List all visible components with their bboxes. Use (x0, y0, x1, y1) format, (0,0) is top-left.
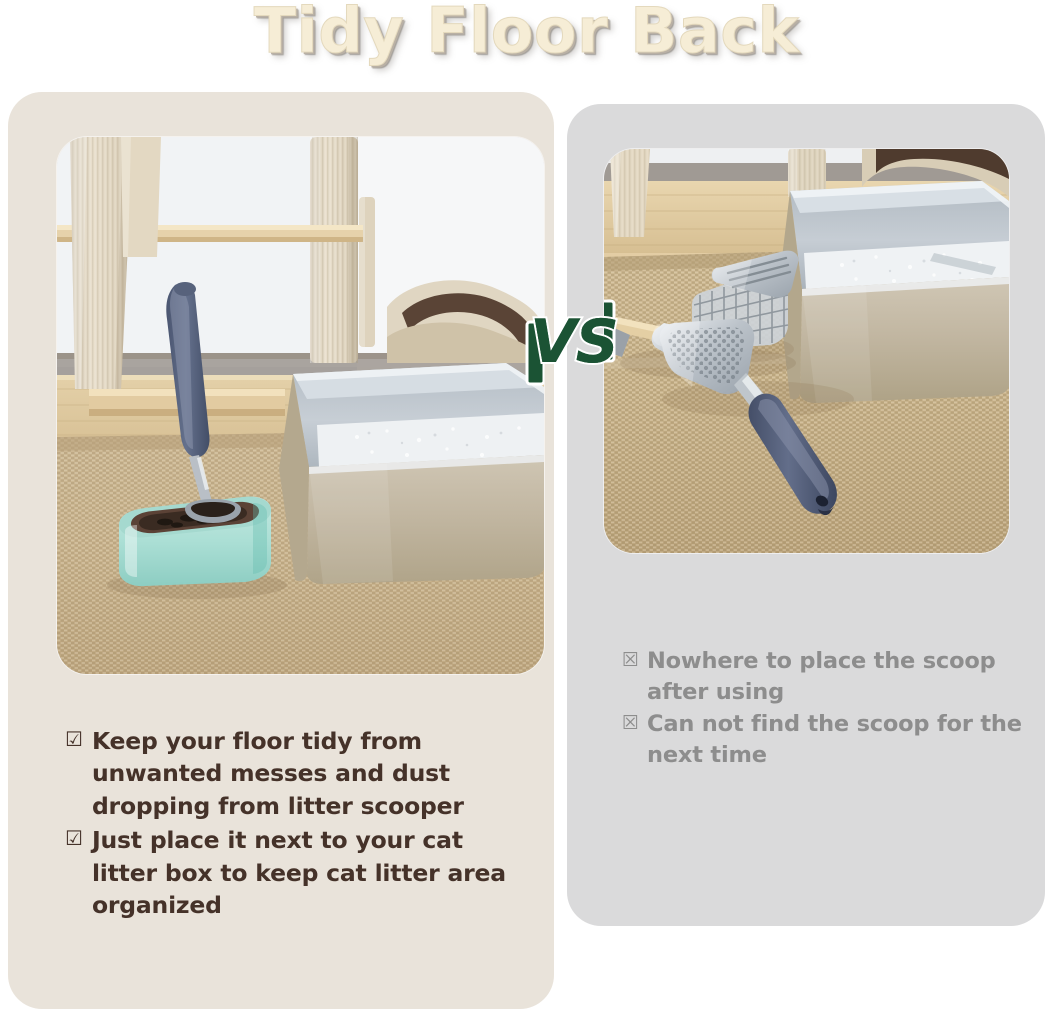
crossed-box-icon: ☒ (622, 646, 639, 673)
problem-photo-loose-scoops (604, 149, 1009, 553)
page-title: Tidy Floor Back (254, 0, 799, 63)
checked-box-icon: ☑ (65, 824, 83, 853)
checked-box-icon: ☑ (65, 725, 83, 754)
drawback-list: ☒ Nowhere to place the scoop after using… (622, 646, 1030, 772)
benefit-text: Just place it next to your cat litter bo… (92, 824, 535, 921)
list-item: ☑ Keep your floor tidy from unwanted mes… (65, 725, 535, 822)
comparison-panel-right: ☒ Nowhere to place the scoop after using… (567, 104, 1045, 926)
list-item: ☒ Can not find the scoop for the next ti… (622, 709, 1030, 771)
list-item: ☒ Nowhere to place the scoop after using (622, 646, 1030, 708)
list-item: ☑ Just place it next to your cat litter … (65, 824, 535, 921)
benefit-list: ☑ Keep your floor tidy from unwanted mes… (65, 725, 535, 924)
drawback-text: Nowhere to place the scoop after using (647, 646, 1030, 708)
benefit-text: Keep your floor tidy from unwanted messe… (92, 725, 535, 822)
crossed-box-icon: ☒ (622, 709, 639, 736)
title-bar: Tidy Floor Back (0, 0, 1053, 86)
comparison-panel-left: ☑ Keep your floor tidy from unwanted mes… (8, 92, 554, 1009)
product-photo-with-holder (57, 137, 544, 674)
drawback-text: Can not find the scoop for the next time (647, 709, 1030, 771)
